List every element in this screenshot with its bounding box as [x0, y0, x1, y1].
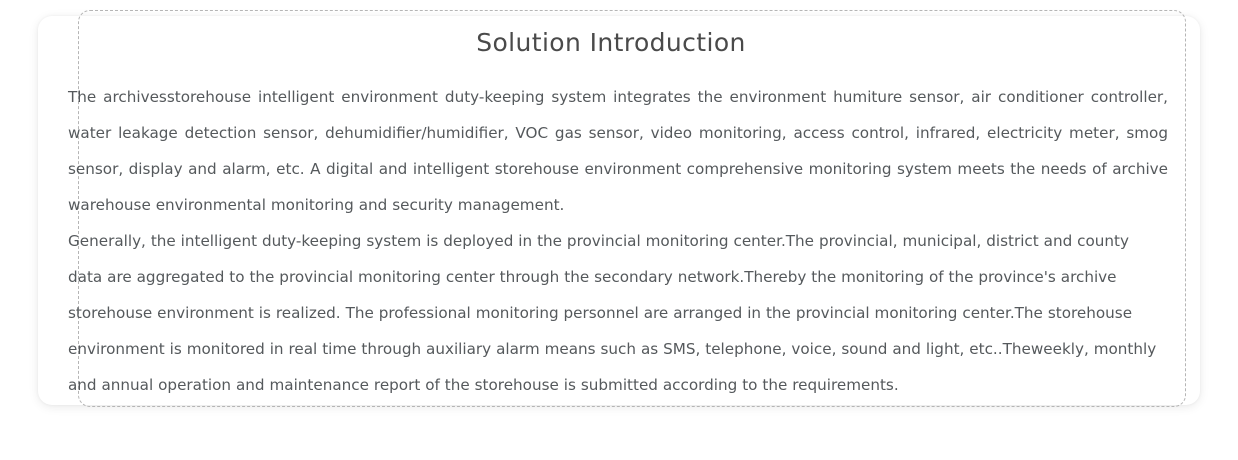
paragraph-deployment: Generally, the intelligent duty-keeping … — [68, 223, 1168, 403]
solution-content: Solution Introduction The archivesstoreh… — [68, 26, 1168, 386]
solution-body: The archivesstorehouse intelligent envir… — [68, 79, 1168, 403]
paragraph-intro: The archivesstorehouse intelligent envir… — [68, 79, 1168, 223]
page-root: Solution Introduction The archivesstoreh… — [0, 0, 1238, 460]
page-title: Solution Introduction — [56, 26, 1166, 60]
